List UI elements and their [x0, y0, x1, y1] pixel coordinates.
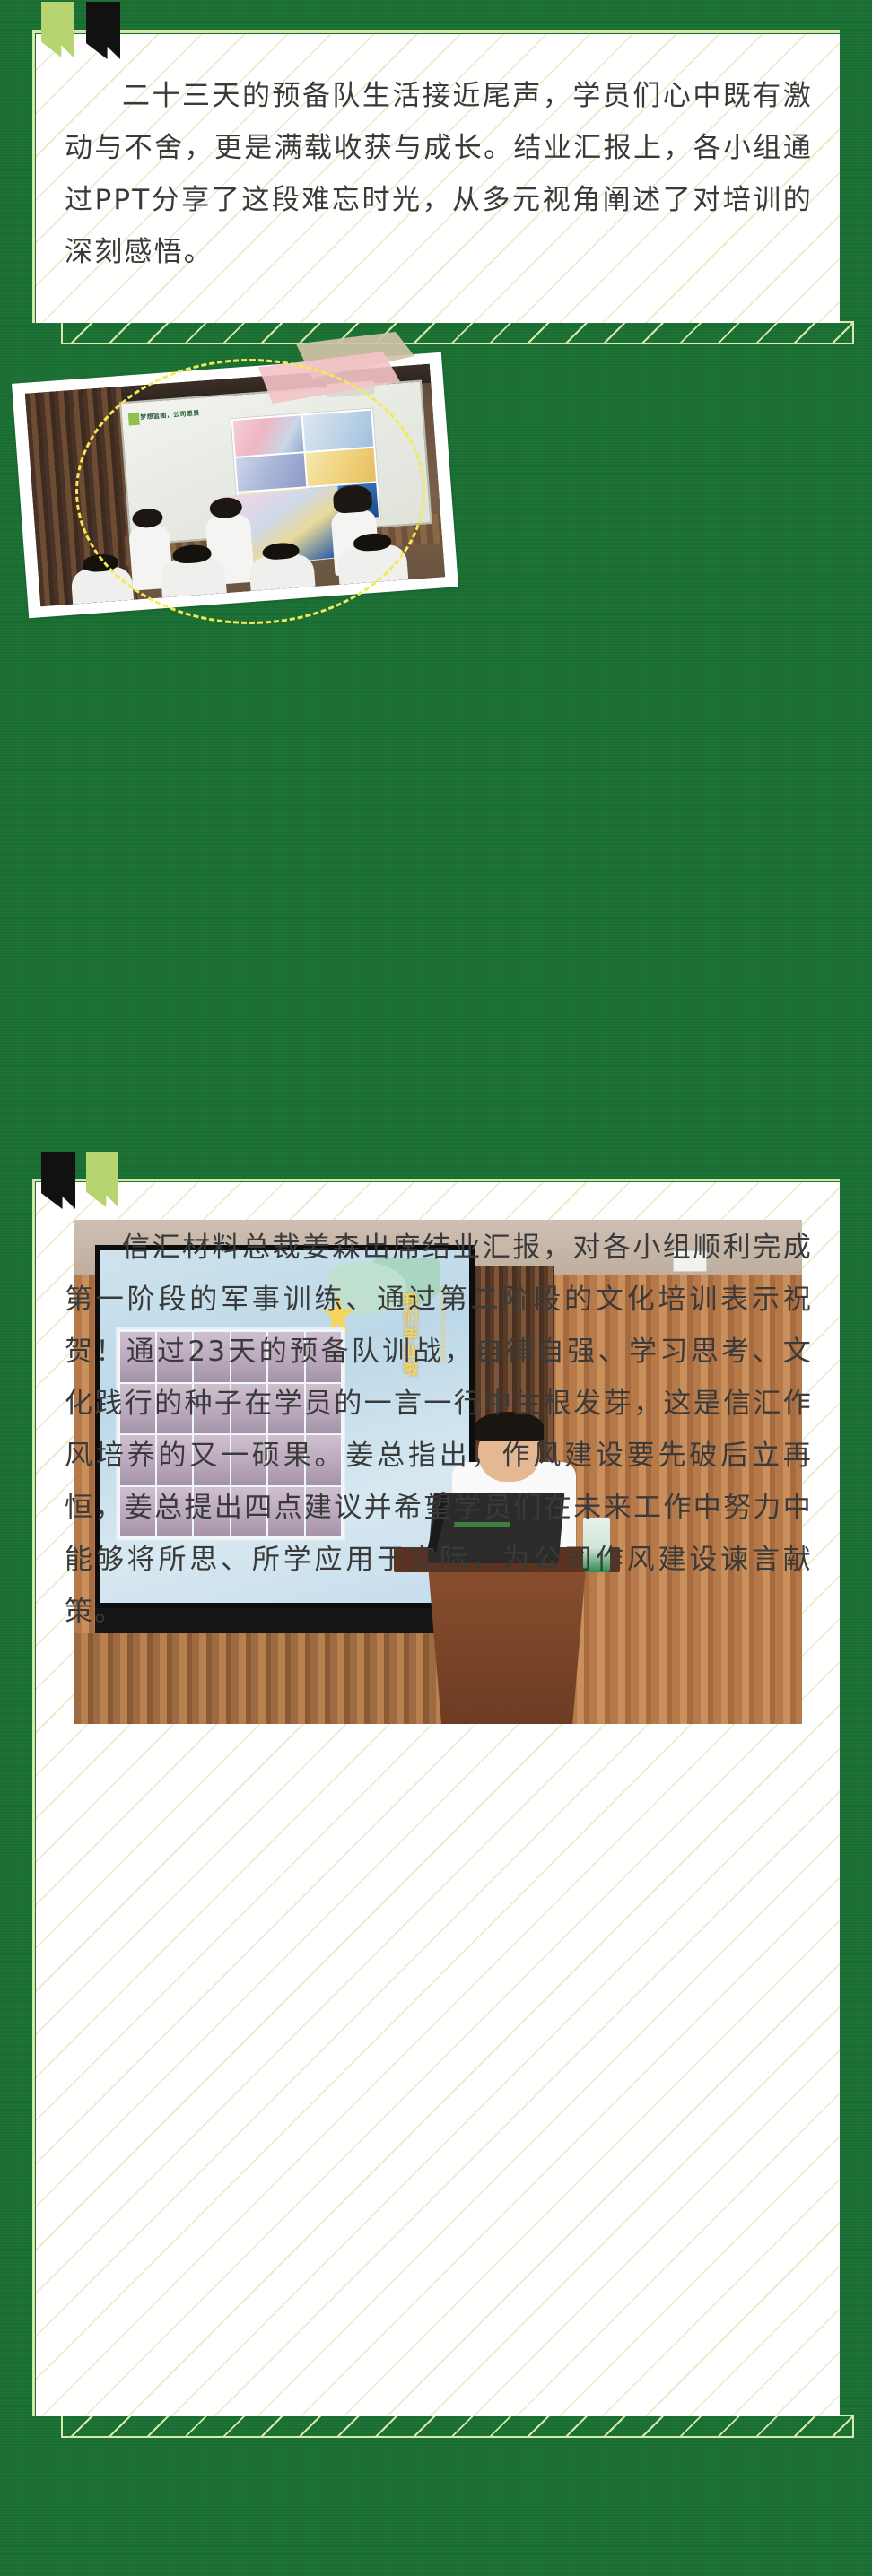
hatch-strip-bottom — [61, 2415, 854, 2438]
report-card: 信汇材料五行动力班结营 我们毕业啦 — [36, 1182, 840, 2416]
card-rule-left-bottom — [32, 1179, 35, 2416]
poster-page: 二十三天的预备队生活接近尾声，学员们心中既有激动与不舍，更是满载收获与成长。结业… — [0, 0, 872, 2576]
dashed-ring-decoration — [75, 359, 425, 624]
hatch-strip-top — [61, 321, 854, 344]
card-rule-left-top — [32, 30, 35, 323]
intro-paragraph: 二十三天的预备队生活接近尾声，学员们心中既有激动与不舍，更是满载收获与成长。结业… — [65, 70, 813, 278]
report-paragraph: 信汇材料总裁姜森出席结业汇报，对各小组顺利完成第一阶段的军事训练、通过第二阶段的… — [65, 1222, 813, 1638]
intro-card: 二十三天的预备队生活接近尾声，学员们心中既有激动与不舍，更是满载收获与成长。结业… — [36, 34, 840, 323]
card-rule-top-bottom — [32, 1179, 840, 1181]
card-rule-top-top — [32, 30, 840, 33]
